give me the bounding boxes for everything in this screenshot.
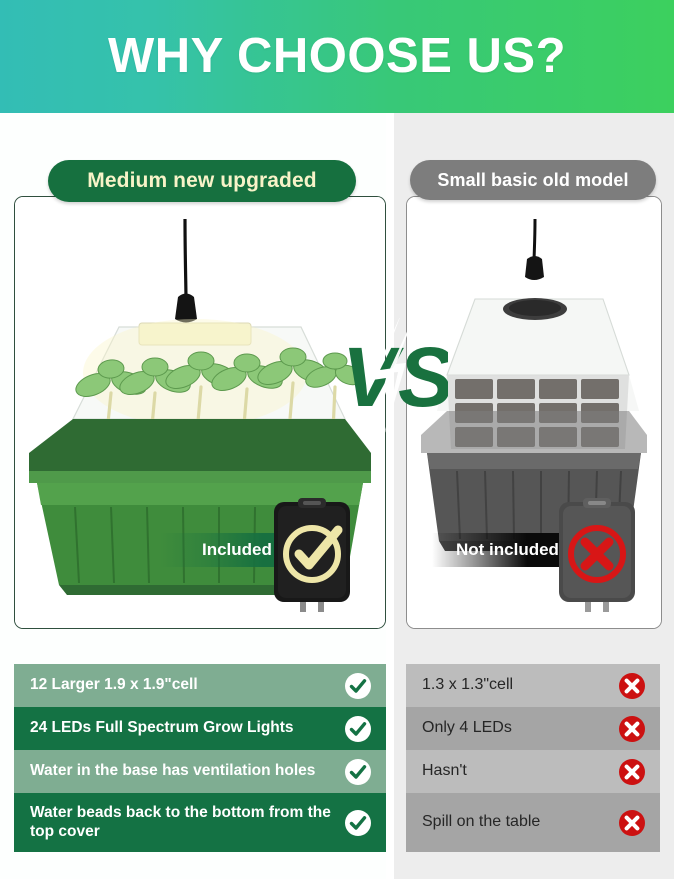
feature-label: 24 LEDs Full Spectrum Grow Lights xyxy=(30,719,304,737)
right-feature-list: 1.3 x 1.3"cell Only 4 LEDs Hasn't Spill … xyxy=(406,664,660,852)
check-mark-icon xyxy=(344,715,372,743)
left-power-adapter xyxy=(268,492,356,612)
table-row: 1.3 x 1.3"cell xyxy=(406,664,660,707)
feature-label: Water beads back to the bottom from the … xyxy=(30,804,344,841)
table-row: Only 4 LEDs xyxy=(406,707,660,750)
cross-mark-icon xyxy=(618,715,646,743)
left-feature-list: 12 Larger 1.9 x 1.9"cell 24 LEDs Full Sp… xyxy=(14,664,386,852)
right-power-adapter xyxy=(553,492,641,612)
feature-label: Only 4 LEDs xyxy=(422,719,522,738)
cross-mark-icon xyxy=(618,809,646,837)
feature-label: Hasn't xyxy=(422,762,477,781)
table-row: Spill on the table xyxy=(406,793,660,852)
check-mark-icon xyxy=(344,672,372,700)
not-included-label: Not included xyxy=(432,540,559,560)
check-mark-icon xyxy=(344,809,372,837)
left-model-badge-label: Medium new upgraded xyxy=(87,169,316,193)
power-adapter-check-icon xyxy=(268,492,356,612)
table-row: 24 LEDs Full Spectrum Grow Lights xyxy=(14,707,386,750)
page-title: WHY CHOOSE US? xyxy=(108,32,566,81)
table-row: 12 Larger 1.9 x 1.9"cell xyxy=(14,664,386,707)
comparison-infographic: WHY CHOOSE US? xyxy=(0,0,674,879)
power-adapter-cross-icon xyxy=(553,492,641,612)
right-model-badge-label: Small basic old model xyxy=(437,170,628,191)
right-model-badge: Small basic old model xyxy=(410,160,656,200)
left-model-badge: Medium new upgraded xyxy=(48,160,356,202)
feature-label: 1.3 x 1.3"cell xyxy=(422,676,523,695)
column-divider xyxy=(386,113,394,879)
check-mark-icon xyxy=(344,758,372,786)
header-banner: WHY CHOOSE US? xyxy=(0,0,674,113)
cross-mark-icon xyxy=(618,758,646,786)
feature-label: Spill on the table xyxy=(422,813,550,832)
table-row: Water beads back to the bottom from the … xyxy=(14,793,386,852)
included-label: Included xyxy=(160,540,272,560)
feature-label: Water in the base has ventilation holes xyxy=(30,762,325,780)
cross-mark-icon xyxy=(618,672,646,700)
table-row: Water in the base has ventilation holes xyxy=(14,750,386,793)
feature-label: 12 Larger 1.9 x 1.9"cell xyxy=(30,676,208,694)
table-row: Hasn't xyxy=(406,750,660,793)
